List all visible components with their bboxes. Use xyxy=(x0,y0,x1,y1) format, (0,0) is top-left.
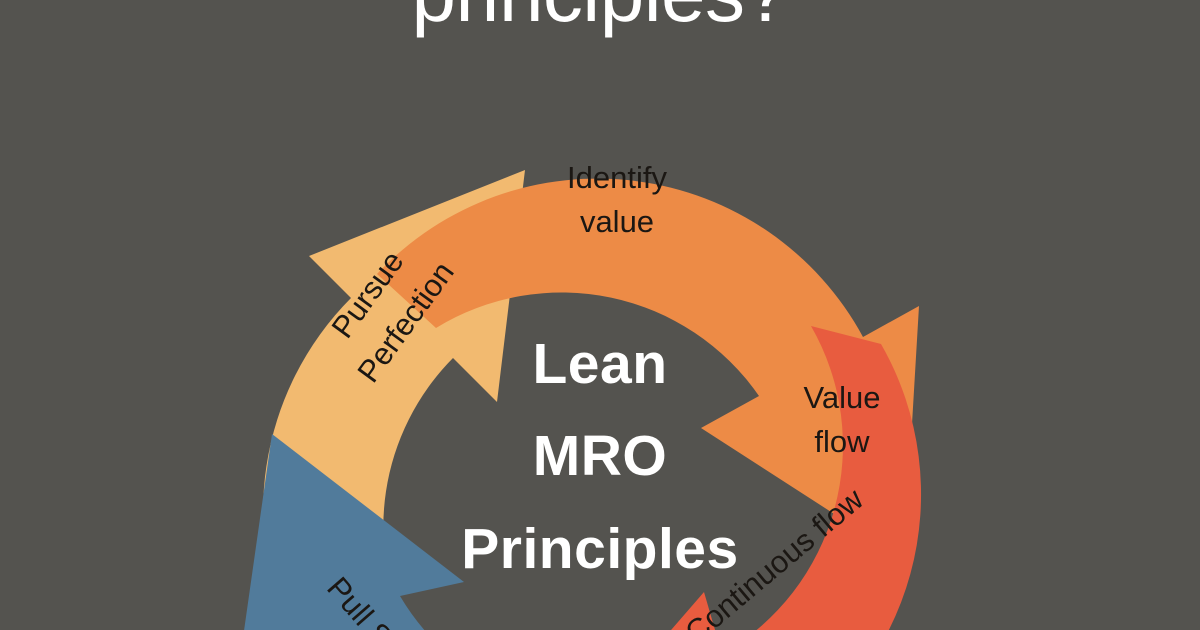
slide-canvas: principles? Lean xyxy=(0,0,1200,630)
segment-label-identify-value-line1: Identify xyxy=(497,156,737,200)
page-title: principles? xyxy=(0,0,1200,40)
segment-label-identify-value-line2: value xyxy=(497,200,737,244)
cycle-segment-pull-system[interactable] xyxy=(237,434,585,630)
segment-label-identify-value: Identify value xyxy=(497,156,737,244)
segment-label-value-flow-line1: Value xyxy=(772,376,912,420)
